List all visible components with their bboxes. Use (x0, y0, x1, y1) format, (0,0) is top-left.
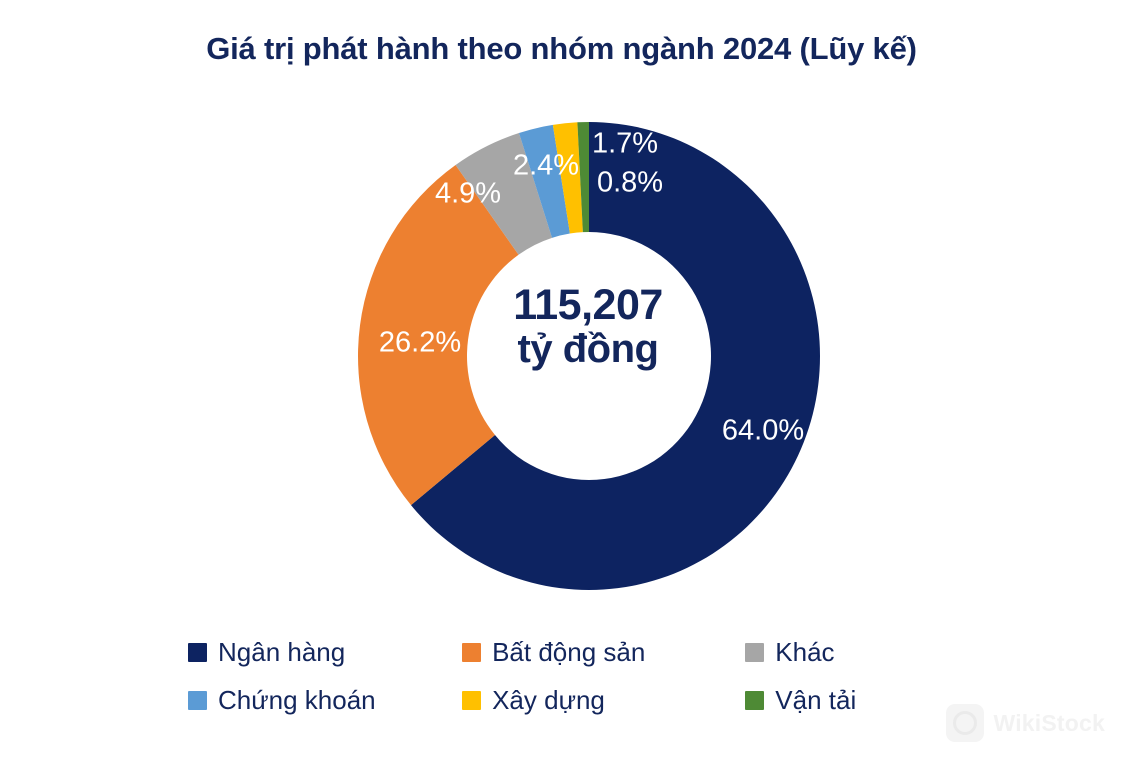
watermark: WikiStock (946, 704, 1105, 742)
legend-swatch-icon (462, 691, 481, 710)
chart-page: Giá trị phát hành theo nhóm ngành 2024 (… (0, 0, 1123, 760)
legend-item-label: Vận tải (775, 687, 856, 713)
slice-percent-label: 1.7% (592, 128, 658, 160)
chart-legend: Ngân hàngBất động sảnKhácChứng khoánXây … (188, 628, 928, 724)
legend-item-label: Xây dựng (492, 687, 605, 713)
legend-row: Ngân hàngBất động sảnKhác (188, 628, 928, 676)
legend-item-label: Khác (775, 639, 834, 665)
legend-swatch-icon (188, 643, 207, 662)
legend-item[interactable]: Khác (745, 639, 928, 665)
legend-item[interactable]: Bất động sản (462, 639, 745, 665)
donut-chart: 64.0%26.2%4.9%2.4%1.7%0.8% (358, 122, 820, 590)
slice-percent-label: 64.0% (722, 415, 804, 447)
legend-swatch-icon (462, 643, 481, 662)
legend-item-label: Chứng khoán (218, 687, 376, 713)
legend-swatch-icon (745, 643, 764, 662)
legend-item-label: Bất động sản (492, 639, 645, 665)
legend-swatch-icon (188, 691, 207, 710)
page-title: Giá trị phát hành theo nhóm ngành 2024 (… (0, 30, 1123, 67)
watermark-text: WikiStock (993, 710, 1105, 737)
slice-percent-label: 26.2% (379, 327, 461, 359)
legend-item[interactable]: Ngân hàng (188, 639, 462, 665)
donut-svg: 64.0%26.2%4.9%2.4%1.7%0.8% (358, 122, 820, 590)
legend-row: Chứng khoánXây dựngVận tải (188, 676, 928, 724)
slice-percent-label: 0.8% (597, 167, 663, 199)
slice-percent-label: 4.9% (435, 178, 501, 210)
legend-item-label: Ngân hàng (218, 639, 345, 665)
legend-swatch-icon (745, 691, 764, 710)
legend-item[interactable]: Vận tải (745, 687, 928, 713)
wikistock-logo-icon (946, 704, 984, 742)
legend-item[interactable]: Chứng khoán (188, 687, 462, 713)
legend-item[interactable]: Xây dựng (462, 687, 745, 713)
slice-percent-label: 2.4% (513, 150, 579, 182)
